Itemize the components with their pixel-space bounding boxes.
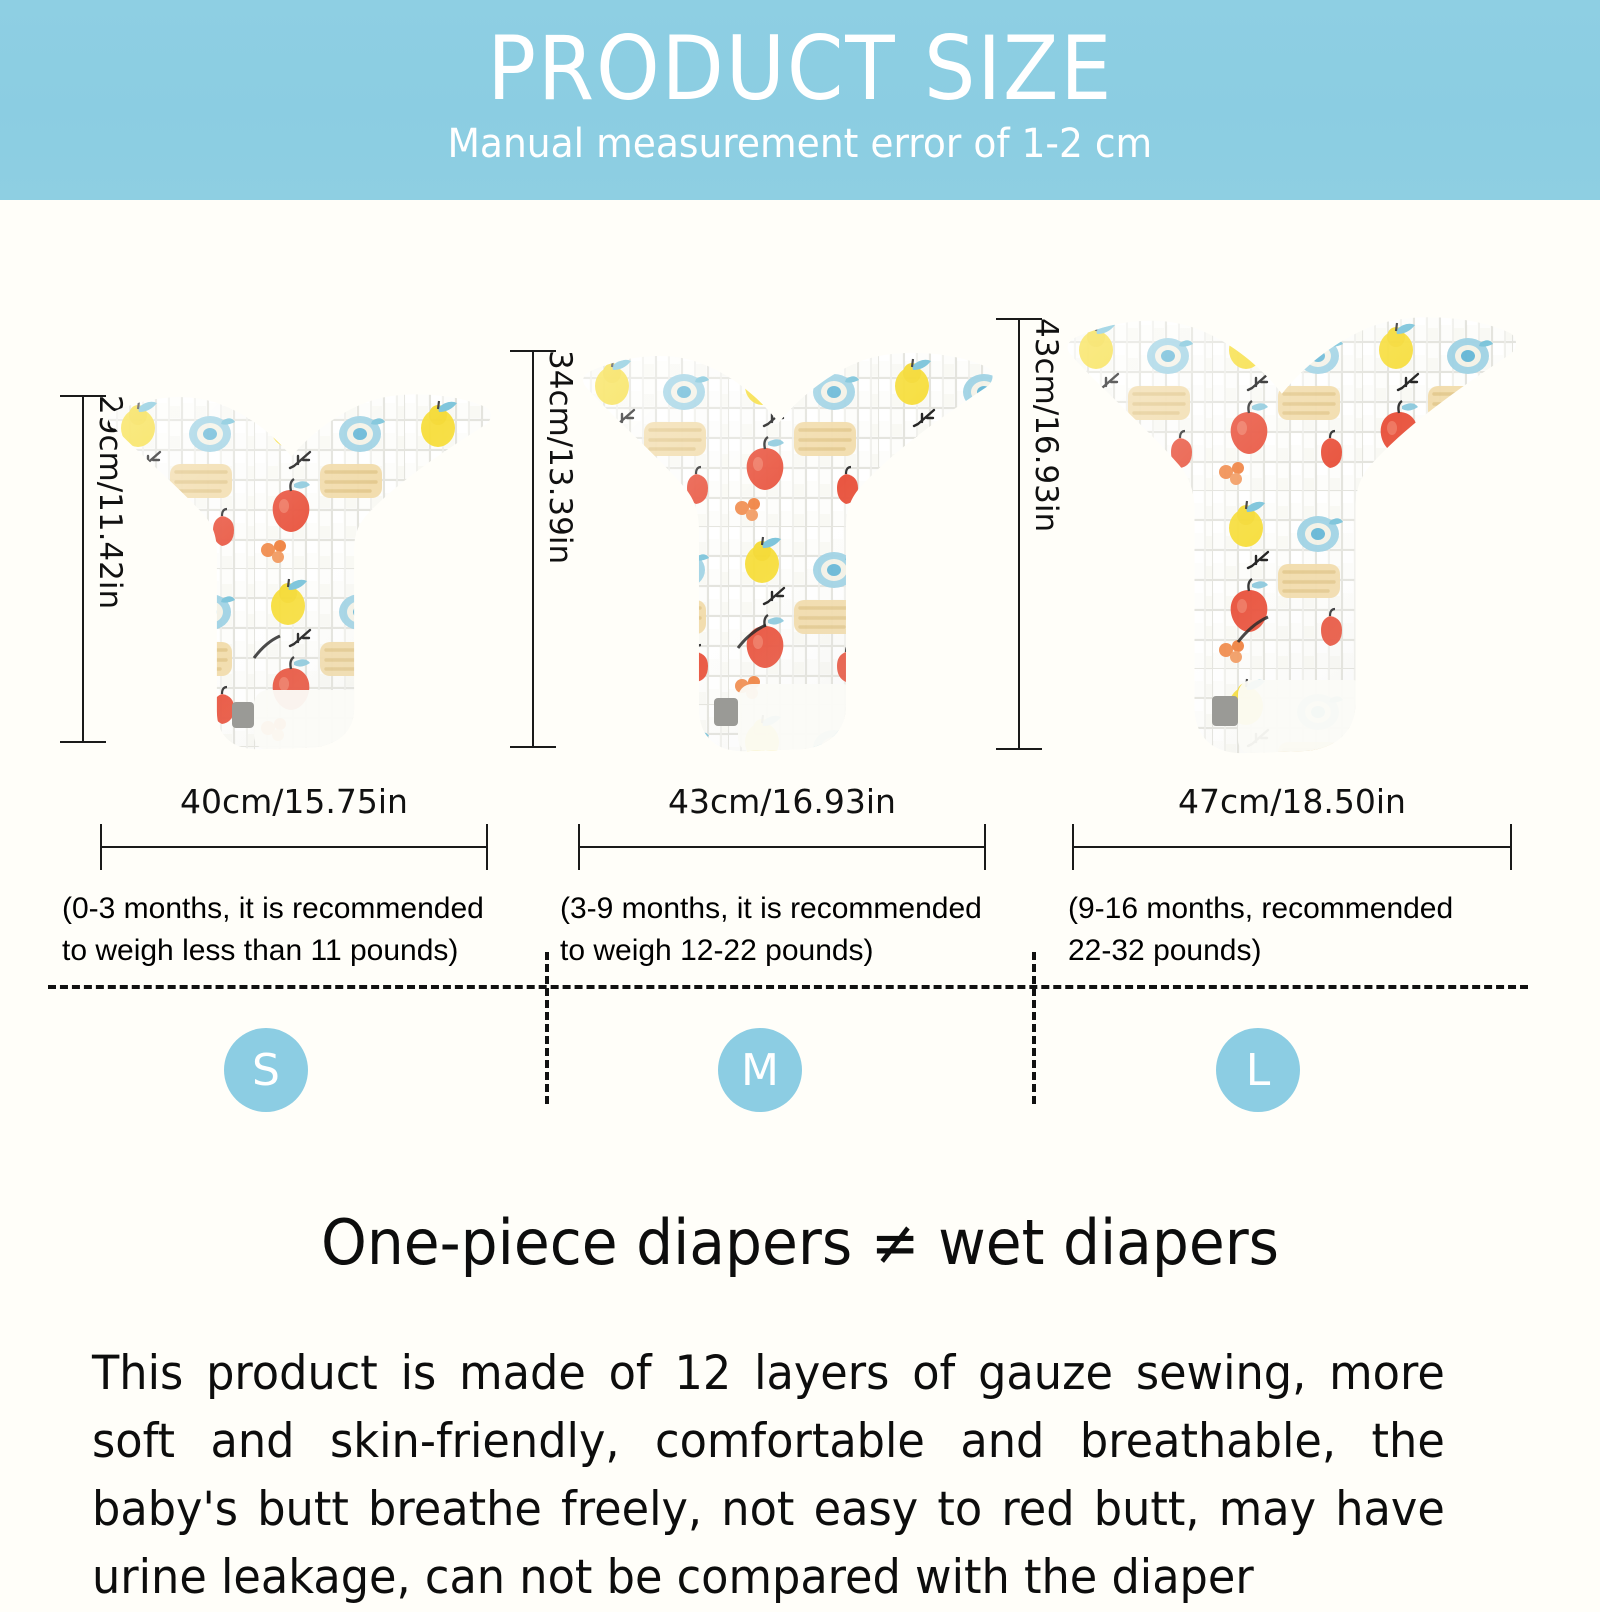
size-caption-l: (9-16 months, recommended 22-32 pounds) (1068, 888, 1518, 972)
size-caption-l-line2: 22-32 pounds) (1068, 930, 1518, 972)
width-dimension-line-m (578, 846, 986, 848)
size-badge-m-label: M (741, 1045, 779, 1096)
size-badge-m[interactable]: M (718, 1028, 802, 1112)
width-dimension-m: 43cm/16.93in (578, 788, 986, 848)
size-badge-s[interactable]: S (224, 1028, 308, 1112)
size-caption-m: (3-9 months, it is recommended to weigh … (560, 888, 1030, 972)
size-caption-s: (0-3 months, it is recommended to weigh … (62, 888, 542, 972)
page-subtitle: Manual measurement error of 1-2 cm (448, 120, 1153, 168)
width-dimension-line-s (100, 846, 488, 848)
width-dimension-line-l (1072, 846, 1512, 848)
column-divider-2 (1032, 952, 1036, 1104)
size-caption-s-line2: to weigh less than 11 pounds) (62, 930, 542, 972)
feature-description: This product is made of 12 layers of gau… (92, 1340, 1445, 1612)
height-dimension-l: 43cm/16.93in (1018, 318, 1064, 750)
height-dimension-line-s (82, 395, 84, 743)
width-dimension-s: 40cm/15.75in (100, 788, 488, 848)
diaper-image-m (578, 348, 998, 752)
width-dimension-label-l: 47cm/18.50in (1072, 782, 1512, 821)
height-dimension-line-m (532, 350, 534, 748)
size-caption-m-line1: (3-9 months, it is recommended (560, 888, 1030, 930)
page-header-banner: PRODUCT SIZE Manual measurement error of… (0, 0, 1600, 200)
size-badge-s-label: S (252, 1045, 280, 1096)
size-caption-m-line2: to weigh 12-22 pounds) (560, 930, 1030, 972)
column-divider-1 (545, 952, 549, 1104)
width-dimension-l: 47cm/18.50in (1072, 788, 1512, 848)
width-dimension-label-m: 43cm/16.93in (578, 782, 986, 821)
size-caption-l-line1: (9-16 months, recommended (1068, 888, 1518, 930)
height-dimension-label-m: 34cm/13.39in (542, 350, 578, 748)
diaper-image-s (104, 390, 496, 750)
diaper-image-l (1062, 312, 1522, 754)
feature-headline: One-piece diapers ≠ wet diapers (48, 1205, 1552, 1281)
horizontal-divider (48, 985, 1528, 989)
size-badge-l[interactable]: L (1216, 1028, 1300, 1112)
page-title: PRODUCT SIZE (487, 20, 1113, 118)
size-comparison-area: 29cm/11.42in 40cm/15.75in 34cm/13.39in (0, 200, 1600, 1200)
height-dimension-line-l (1018, 318, 1020, 750)
size-caption-s-line1: (0-3 months, it is recommended (62, 888, 542, 930)
size-badge-l-label: L (1246, 1045, 1271, 1096)
diaper-svg-m (578, 348, 998, 752)
width-dimension-label-s: 40cm/15.75in (100, 782, 488, 821)
diaper-svg-l (1062, 312, 1522, 754)
height-dimension-label-l: 43cm/16.93in (1028, 318, 1064, 750)
height-dimension-m: 34cm/13.39in (532, 350, 578, 748)
diaper-svg-s (104, 390, 496, 750)
